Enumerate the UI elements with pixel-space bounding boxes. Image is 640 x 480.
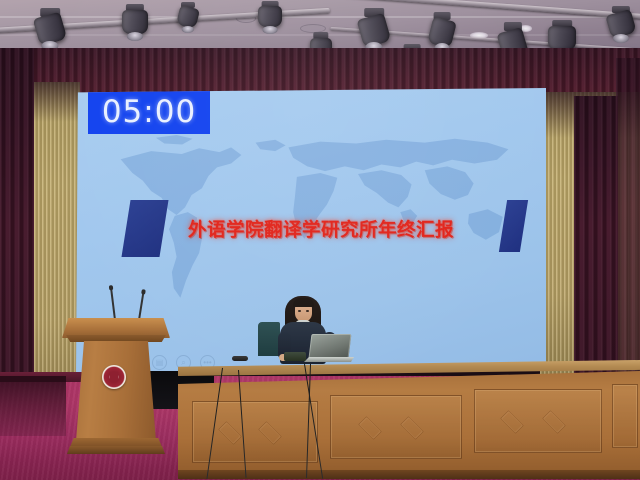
countdown-timer-value: 05:00 <box>102 97 196 128</box>
moving-head-spotlight <box>122 4 148 38</box>
moving-head-spotlight <box>36 8 64 48</box>
chair <box>258 322 280 356</box>
desk-device <box>284 352 306 361</box>
stage-curtain-right <box>574 96 618 382</box>
moving-head-spotlight <box>178 2 198 30</box>
laptop-keyboard <box>304 357 354 362</box>
table-panel <box>330 395 462 459</box>
laptop-screen <box>309 334 352 358</box>
moving-head-spotlight <box>430 12 454 50</box>
moving-head-spotlight <box>608 6 634 40</box>
table-front-facade <box>178 371 640 479</box>
slide-title: 外语学院翻译学研究所年终汇报 <box>188 216 488 242</box>
speaker-podium <box>62 318 170 458</box>
floor-shadow <box>0 376 66 436</box>
moving-head-spotlight <box>258 1 282 31</box>
moving-head-spotlight <box>360 8 388 50</box>
auditorium-scene: 外语学院翻译学研究所年终汇报 05:00 ✎ ▤ ⌕ ••• <box>0 0 640 480</box>
table-microphone <box>232 356 248 361</box>
panel-table <box>178 360 640 480</box>
presenter-laptop <box>304 334 352 364</box>
podium-body <box>76 341 156 441</box>
stage-curtain-far-right <box>616 58 640 388</box>
university-emblem <box>102 365 126 389</box>
countdown-timer-banner: 05:00 <box>88 90 210 134</box>
table-panel <box>612 384 638 448</box>
table-panel <box>474 389 602 453</box>
